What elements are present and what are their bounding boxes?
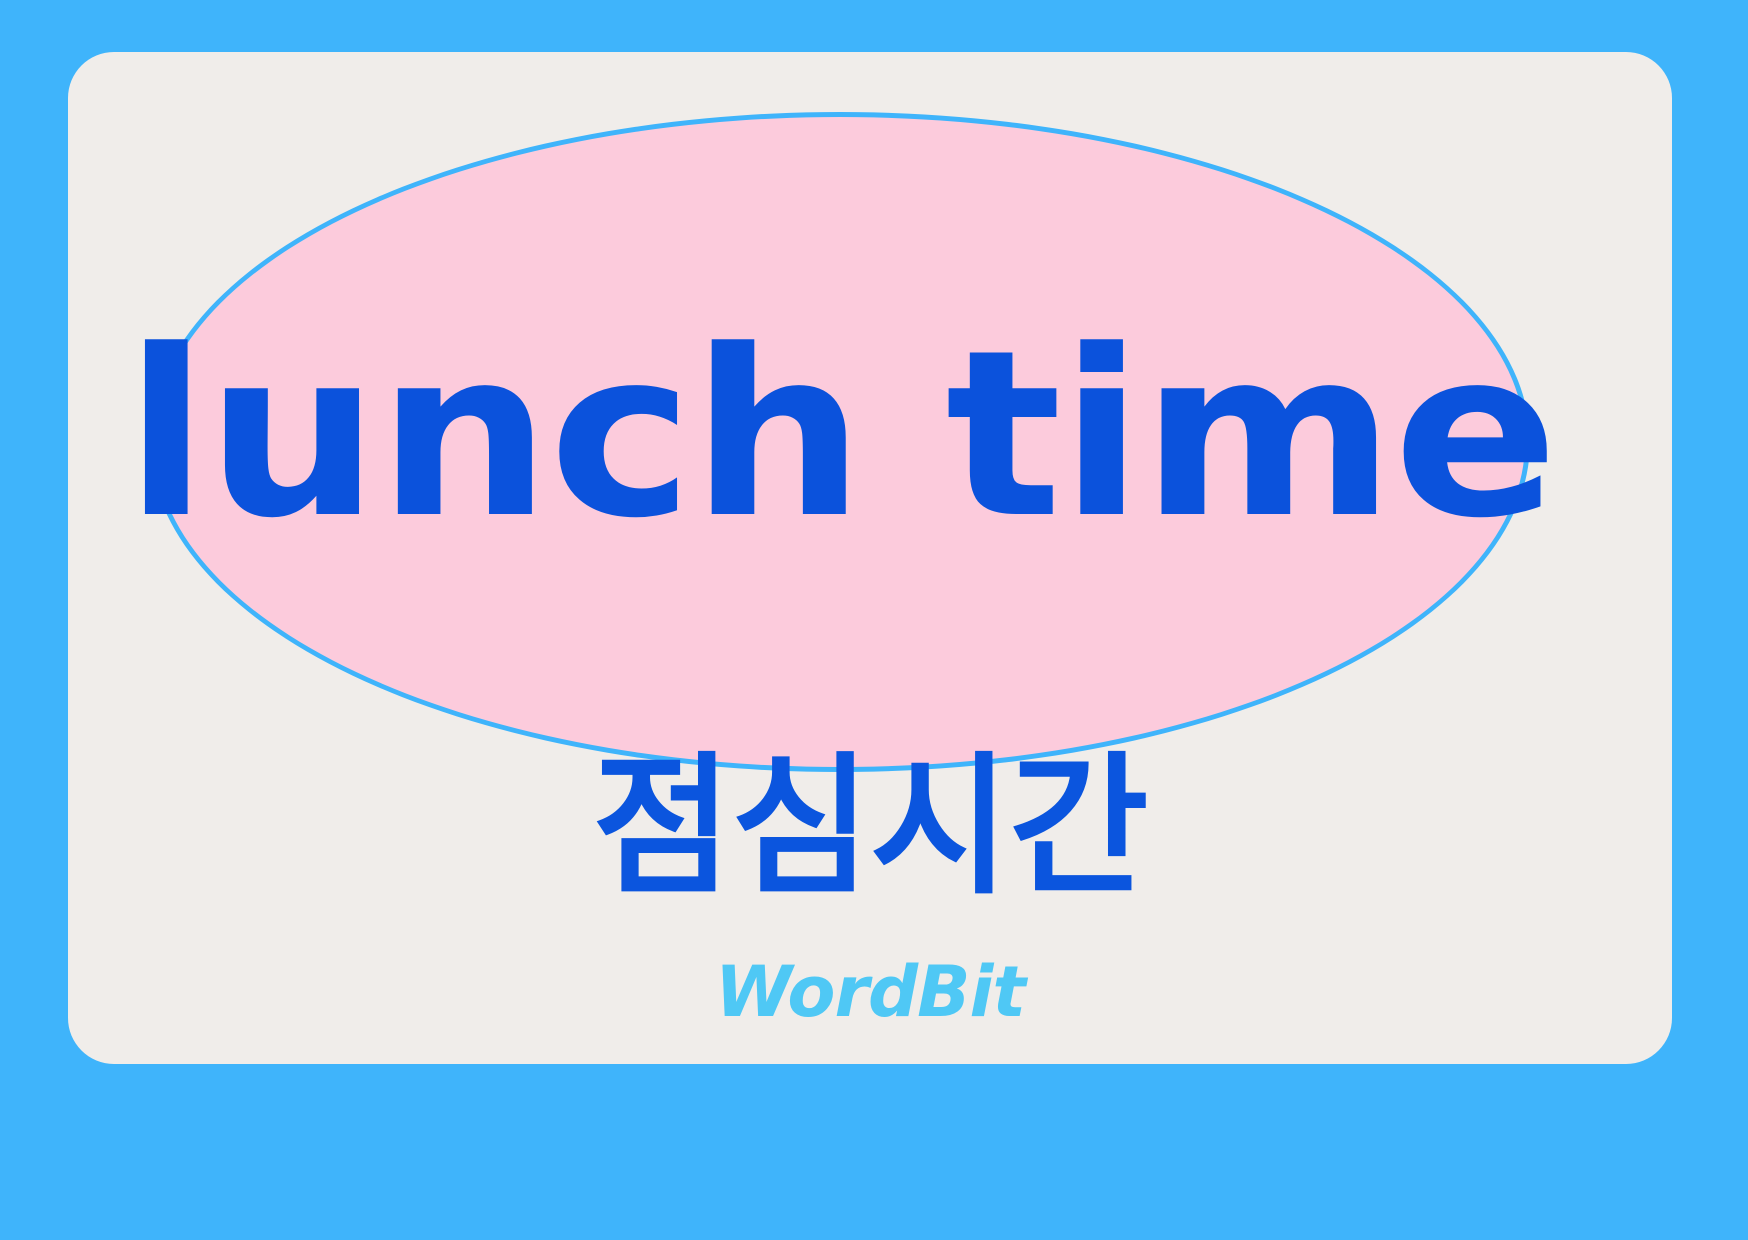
flashcard-card[interactable]: lunch time 점심시간 WordBit xyxy=(68,52,1672,1064)
flashcard-translation: 점심시간 xyxy=(68,742,1672,912)
wordbit-brand-logo: WordBit xyxy=(68,957,1672,1027)
term-highlight-ellipse: lunch time xyxy=(150,112,1530,772)
flashcard-screen: lunch time 점심시간 WordBit xyxy=(0,0,1748,1240)
flashcard-term: lunch time xyxy=(124,321,1556,551)
